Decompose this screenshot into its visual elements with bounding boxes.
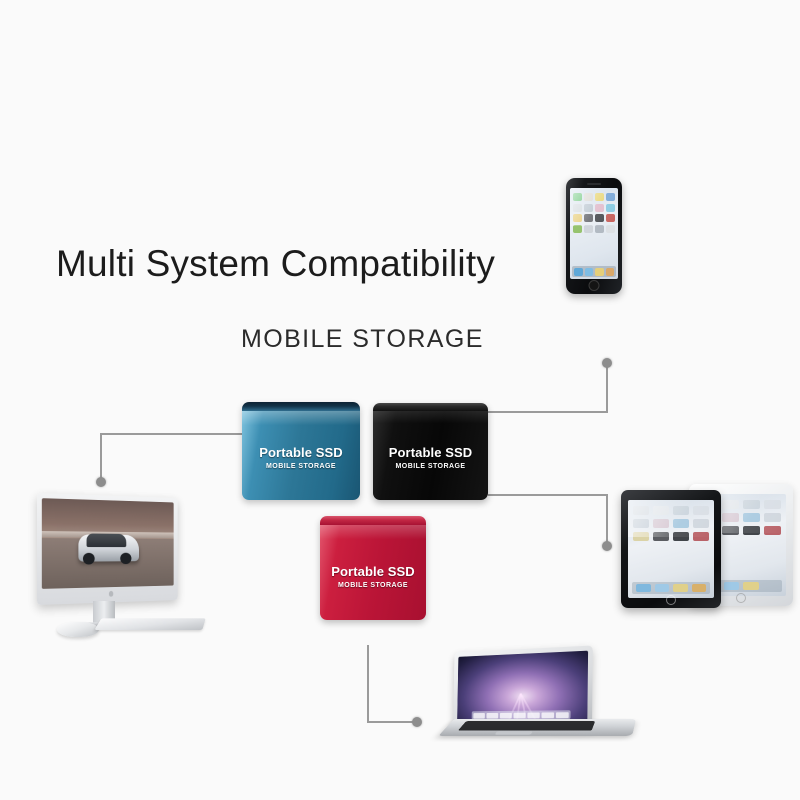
portable-ssd-red[interactable]: Portable SSD MOBILE STORAGE <box>320 516 426 620</box>
portable-ssd-black[interactable]: Portable SSD MOBILE STORAGE <box>373 403 488 500</box>
tablet-pair <box>617 482 797 610</box>
dock-icon <box>743 582 759 590</box>
laptop-trackpad <box>495 731 533 735</box>
page-subtitle: MOBILE STORAGE <box>241 325 484 354</box>
screen-image-car-cabin <box>87 533 127 547</box>
laptop-keyboard <box>458 721 595 730</box>
ssd-top-bezel <box>242 402 360 411</box>
ssd-brand-label: Portable SSD <box>242 446 360 461</box>
dock-icon <box>636 584 651 592</box>
dock-icon <box>585 268 594 276</box>
monitor-chin <box>42 586 174 601</box>
connector-black-to-phone-vertical <box>606 364 608 412</box>
dock-icon <box>574 268 583 276</box>
dock-icon <box>513 712 526 718</box>
dock-icon <box>655 584 670 592</box>
dock-icon <box>724 582 740 590</box>
portable-ssd-blue[interactable]: Portable SSD MOBILE STORAGE <box>242 402 360 500</box>
ssd-sub-label: MOBILE STORAGE <box>242 463 360 471</box>
connector-blue-to-desktop-vertical <box>100 433 102 482</box>
connector-dot-phone <box>602 358 612 368</box>
dock-icon <box>486 712 498 718</box>
connector-black-to-phone-horizontal <box>488 411 608 413</box>
dock-icon <box>556 712 569 718</box>
ssd-label-group: Portable SSD MOBILE STORAGE <box>373 446 488 471</box>
connector-red-to-laptop-vertical <box>367 645 369 723</box>
dock-icon <box>541 712 554 718</box>
phone-screen <box>570 188 618 279</box>
tablet-black <box>621 490 721 608</box>
dock-icon <box>595 268 604 276</box>
dock-icon <box>673 584 688 592</box>
dock-icon <box>763 582 779 590</box>
connector-dot-desktop <box>96 477 106 487</box>
tablet-home-button <box>736 593 746 603</box>
dock-icon <box>473 713 485 719</box>
ssd-sub-label: MOBILE STORAGE <box>320 582 426 590</box>
laptop-base <box>438 719 636 736</box>
promo-canvas: Multi System Compatibility MOBILE STORAG… <box>0 0 800 800</box>
connector-dot-tablet <box>602 541 612 551</box>
ssd-label-group: Portable SSD MOBILE STORAGE <box>320 565 426 590</box>
monitor-panel <box>37 493 178 605</box>
desktop-computer-device <box>33 489 208 639</box>
screen-glare <box>570 188 618 226</box>
connector-blue-to-desktop-horizontal <box>100 433 244 435</box>
laptop-device <box>424 645 636 755</box>
phone-home-button <box>589 280 600 291</box>
ssd-sub-label: MOBILE STORAGE <box>373 463 488 471</box>
laptop-lid <box>453 645 593 727</box>
dock-icon <box>500 712 512 718</box>
laptop-screen <box>457 651 588 723</box>
connector-black-to-tablet-horizontal <box>488 494 608 496</box>
tablet-home-button <box>666 595 676 605</box>
dock-icon <box>527 712 540 718</box>
page-title: Multi System Compatibility <box>56 243 495 285</box>
phone-earpiece <box>587 183 601 185</box>
monitor-screen <box>42 498 174 589</box>
ssd-brand-label: Portable SSD <box>373 446 488 461</box>
dock-icon <box>606 268 615 276</box>
connector-red-to-laptop-horizontal <box>367 721 417 723</box>
ssd-top-bezel <box>373 403 488 411</box>
screen-glare <box>628 500 714 537</box>
tablet-dock <box>632 582 710 594</box>
dock-icon <box>692 584 707 592</box>
apple-logo-icon <box>108 591 112 597</box>
smartphone-device <box>566 178 622 294</box>
connector-black-to-tablet-vertical <box>606 494 608 545</box>
phone-dock <box>572 266 616 277</box>
connector-dot-laptop <box>412 717 422 727</box>
computer-keyboard <box>94 618 205 630</box>
tablet-screen <box>628 500 714 598</box>
ssd-brand-label: Portable SSD <box>320 565 426 580</box>
computer-mouse <box>57 622 99 637</box>
ssd-top-bezel <box>320 516 426 525</box>
ssd-label-group: Portable SSD MOBILE STORAGE <box>242 446 360 471</box>
